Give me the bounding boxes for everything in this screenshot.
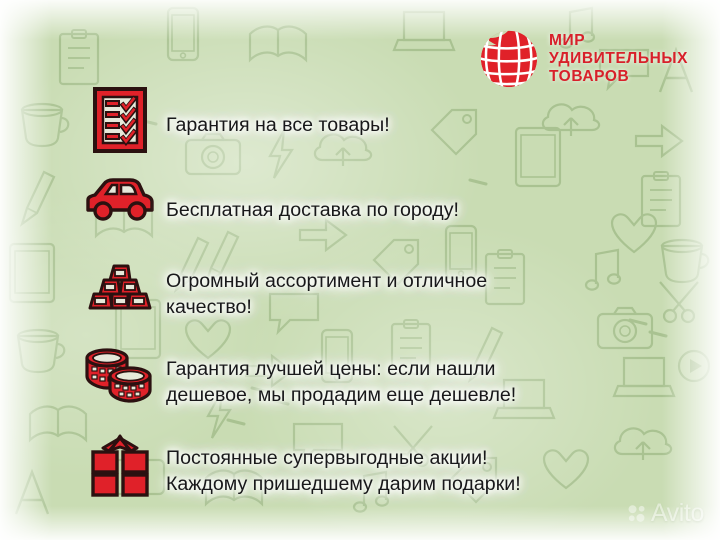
feature-item-delivery: Бесплатная доставка по городу! — [74, 174, 652, 248]
gift-icon-wrap — [74, 430, 166, 498]
feature-text-best-price: Гарантия лучшей цены: если нашли дешевое… — [166, 353, 652, 413]
feature-line: качество! — [166, 295, 646, 321]
car-icon — [84, 176, 156, 224]
coins-icon — [84, 344, 156, 404]
feature-line: Огромный ассортимент и отличное — [166, 269, 646, 295]
checklist-icon — [92, 86, 148, 154]
checklist-icon-wrap — [74, 84, 166, 154]
feature-line: Гарантия лучшей цены: если нашли — [166, 357, 646, 383]
car-icon-wrap — [74, 174, 166, 224]
feature-text-assortment: Огромный ассортимент и отличное качество… — [166, 265, 652, 325]
feature-line: дешевое, мы продадим еще дешевле! — [166, 383, 646, 409]
avito-watermark: Avito — [627, 499, 704, 528]
feature-line: Постоянные супервыгодные акции! — [166, 446, 646, 472]
feature-line: Гарантия на все товары! — [166, 113, 646, 139]
coins-icon-wrap — [74, 342, 166, 404]
feature-text-promos: Постоянные супервыгодные акции! Каждому … — [166, 442, 652, 502]
feature-text-delivery: Бесплатная доставка по городу! — [166, 194, 652, 228]
company-logo: МИР УДИВИТЕЛЬНЫХ ТОВАРОВ — [478, 28, 688, 90]
promo-banner: МИР УДИВИТЕЛЬНЫХ ТОВАРОВ — [0, 0, 720, 540]
feature-list: Гарантия на все товары! Бесплатная доста… — [74, 84, 652, 520]
gold-bars-icon-wrap — [74, 254, 166, 312]
feature-item-best-price: Гарантия лучшей цены: если нашли дешевое… — [74, 342, 652, 424]
feature-item-assortment: Огромный ассортимент и отличное качество… — [74, 254, 652, 336]
logo-text-block: МИР УДИВИТЕЛЬНЫХ ТОВАРОВ — [549, 32, 688, 86]
logo-line-2: УДИВИТЕЛЬНЫХ — [549, 50, 688, 68]
feature-text-warranty: Гарантия на все товары! — [166, 109, 652, 143]
feature-item-promos: Постоянные супервыгодные акции! Каждому … — [74, 430, 652, 514]
logo-line-1: МИР — [549, 32, 688, 50]
avito-dots-icon — [627, 504, 646, 523]
globe-icon — [478, 28, 540, 90]
feature-line: Бесплатная доставка по городу! — [166, 198, 646, 224]
feature-item-warranty: Гарантия на все товары! — [74, 84, 652, 168]
avito-label: Avito — [651, 499, 704, 528]
logo-line-3: ТОВАРОВ — [549, 68, 688, 86]
gold-bars-icon — [87, 256, 153, 312]
gift-icon — [89, 432, 151, 498]
feature-line: Каждому пришедшему дарим подарки! — [166, 472, 646, 498]
